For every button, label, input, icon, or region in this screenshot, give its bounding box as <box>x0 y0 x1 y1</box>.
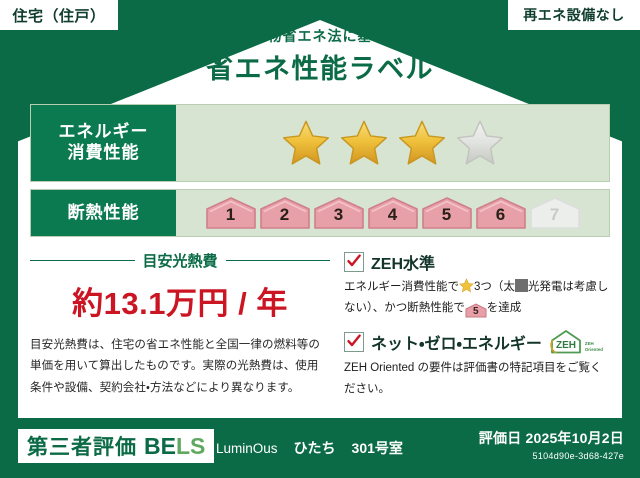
inline-star-icon <box>459 278 474 293</box>
energy-performance-label-line2: 消費性能 <box>68 143 140 164</box>
zeh-desc-part4: を達成 <box>487 302 522 314</box>
bels-wordmark-dark: BE <box>144 433 176 459</box>
insulation-level-4: 4 <box>367 196 419 230</box>
certification-column: ZEH水準 エネルギー消費性能で3つ（太光発電は考慮しない）、かつ断熱性能で5を… <box>330 248 610 406</box>
renewable-energy-tag: 再エネ設備なし <box>508 0 640 30</box>
zeh-desc-part1: エネルギー消費性能で <box>344 281 459 293</box>
evaluation-date: 評価日 2025年10月2日 <box>479 428 624 448</box>
insulation-level-5: 5 <box>421 196 473 230</box>
bels-logo-box: 第三者評価 BELS <box>18 429 214 463</box>
insulation-level-badge: 5 <box>465 303 487 318</box>
insulation-level-value: 5 <box>442 206 451 227</box>
evaluation-uid: 5104d90e-3d68-427e <box>479 451 624 461</box>
insulation-level-value: 7 <box>550 206 559 227</box>
energy-performance-label: エネルギー 消費性能 <box>31 105 176 181</box>
checkbox-checked-icon[interactable] <box>344 252 364 272</box>
star-empty-icon <box>454 118 506 168</box>
building-area: ひたち <box>294 438 336 458</box>
insulation-level-6: 6 <box>475 196 527 230</box>
label-footer: 第三者評価 BELS LuminOus ひたち 301号室 評価日 2025年1… <box>0 420 640 478</box>
net-zero-energy-description: ZEH Oriented の要件は評価書の特記項目をご覧ください。 <box>344 358 610 399</box>
insulation-level-badge-value: 5 <box>473 306 479 317</box>
net-zero-energy-title-row: ネット・ゼロ・エネルギー ZEH ZEH Oriented <box>344 329 610 355</box>
insulation-level-value: 2 <box>280 206 289 227</box>
insulation-level-value: 4 <box>388 206 397 227</box>
building-identification: LuminOus ひたち 301号室 <box>216 438 403 458</box>
insulation-level-value: 6 <box>496 206 505 227</box>
star-filled-icon <box>396 118 448 168</box>
renewable-energy-tag-label: 再エネ設備なし <box>523 5 625 25</box>
zeh-standard-title-row: ZEH水準 <box>344 250 610 274</box>
insulation-level-7: 7 <box>529 196 581 230</box>
checkbox-checked-icon[interactable] <box>344 332 364 352</box>
label-lower-section: 目安光熱費 約13.1万円 / 年 目安光熱費は、住宅の省エネ性能と全国一律の燃… <box>30 244 610 406</box>
insulation-level-value: 3 <box>334 206 343 227</box>
label-content: エネルギー 消費性能 断熱性能 1234567 目安光熱費 約13.1万円 / … <box>30 104 610 406</box>
net-zero-energy-title: ネット・ゼロ・エネルギー <box>371 330 542 354</box>
zeh-logo-sub-line2: Oriented <box>585 347 603 352</box>
svg-text:ZEH: ZEH <box>556 340 576 351</box>
insulation-performance-value: 1234567 <box>176 190 609 236</box>
redacted-character <box>515 279 528 292</box>
evaluation-info: 評価日 2025年10月2日 5104d90e-3d68-427e <box>479 428 624 461</box>
utility-cost-heading: 目安光熱費 <box>30 250 330 271</box>
third-party-evaluation-label: 第三者評価 <box>27 431 137 461</box>
housing-type-tag-label: 住宅（住戸） <box>12 5 105 26</box>
cost-heading-rule-right <box>226 260 331 261</box>
insulation-performance-label: 断熱性能 <box>31 190 176 236</box>
star-filled-icon <box>338 118 390 168</box>
utility-cost-column: 目安光熱費 約13.1万円 / 年 目安光熱費は、住宅の省エネ性能と全国一律の燃… <box>30 248 330 406</box>
insulation-level-scale: 1234567 <box>205 196 581 230</box>
star-filled-icon <box>280 118 332 168</box>
cost-heading-rule-left <box>30 260 135 261</box>
insulation-performance-row: 断熱性能 1234567 <box>30 189 610 237</box>
star-rating <box>280 118 506 168</box>
zeh-standard-title: ZEH水準 <box>371 250 435 274</box>
room-number: 301号室 <box>352 438 403 458</box>
insulation-performance-label-line1: 断熱性能 <box>68 203 140 224</box>
insulation-level-value: 1 <box>226 206 235 227</box>
insulation-level-3: 3 <box>313 196 365 230</box>
bels-wordmark: BELS <box>144 433 205 460</box>
energy-performance-label-line1: エネルギー <box>59 122 149 143</box>
insulation-level-2: 2 <box>259 196 311 230</box>
zeh-desc-part2: 3つ（太 <box>474 281 515 293</box>
insulation-level-1: 1 <box>205 196 257 230</box>
net-zero-energy-check-item: ネット・ゼロ・エネルギー ZEH ZEH Oriented ZEH Ori <box>344 329 610 399</box>
bels-wordmark-light: LS <box>176 433 205 459</box>
utility-cost-value: 約13.1万円 / 年 <box>30 278 330 323</box>
zeh-logo-sub-line1: ZEH <box>585 341 594 346</box>
zeh-standard-description: エネルギー消費性能で3つ（太光発電は考慮しない）、かつ断熱性能で5を達成 <box>344 277 610 318</box>
housing-type-tag: 住宅（住戸） <box>0 0 118 30</box>
zeh-oriented-logo-sub: ZEH Oriented <box>585 341 603 355</box>
building-name: LuminOus <box>216 441 278 456</box>
energy-performance-row: エネルギー 消費性能 <box>30 104 610 182</box>
utility-cost-note: 目安光熱費は、住宅の省エネ性能と全国一律の燃料等の単価を用いて算出したものです。… <box>30 335 330 399</box>
utility-cost-heading-label: 目安光熱費 <box>143 250 218 271</box>
zeh-standard-check-item: ZEH水準 エネルギー消費性能で3つ（太光発電は考慮しない）、かつ断熱性能で5を… <box>344 250 610 318</box>
energy-performance-value <box>176 105 609 181</box>
zeh-oriented-logo: ZEH ZEH Oriented <box>549 329 603 355</box>
